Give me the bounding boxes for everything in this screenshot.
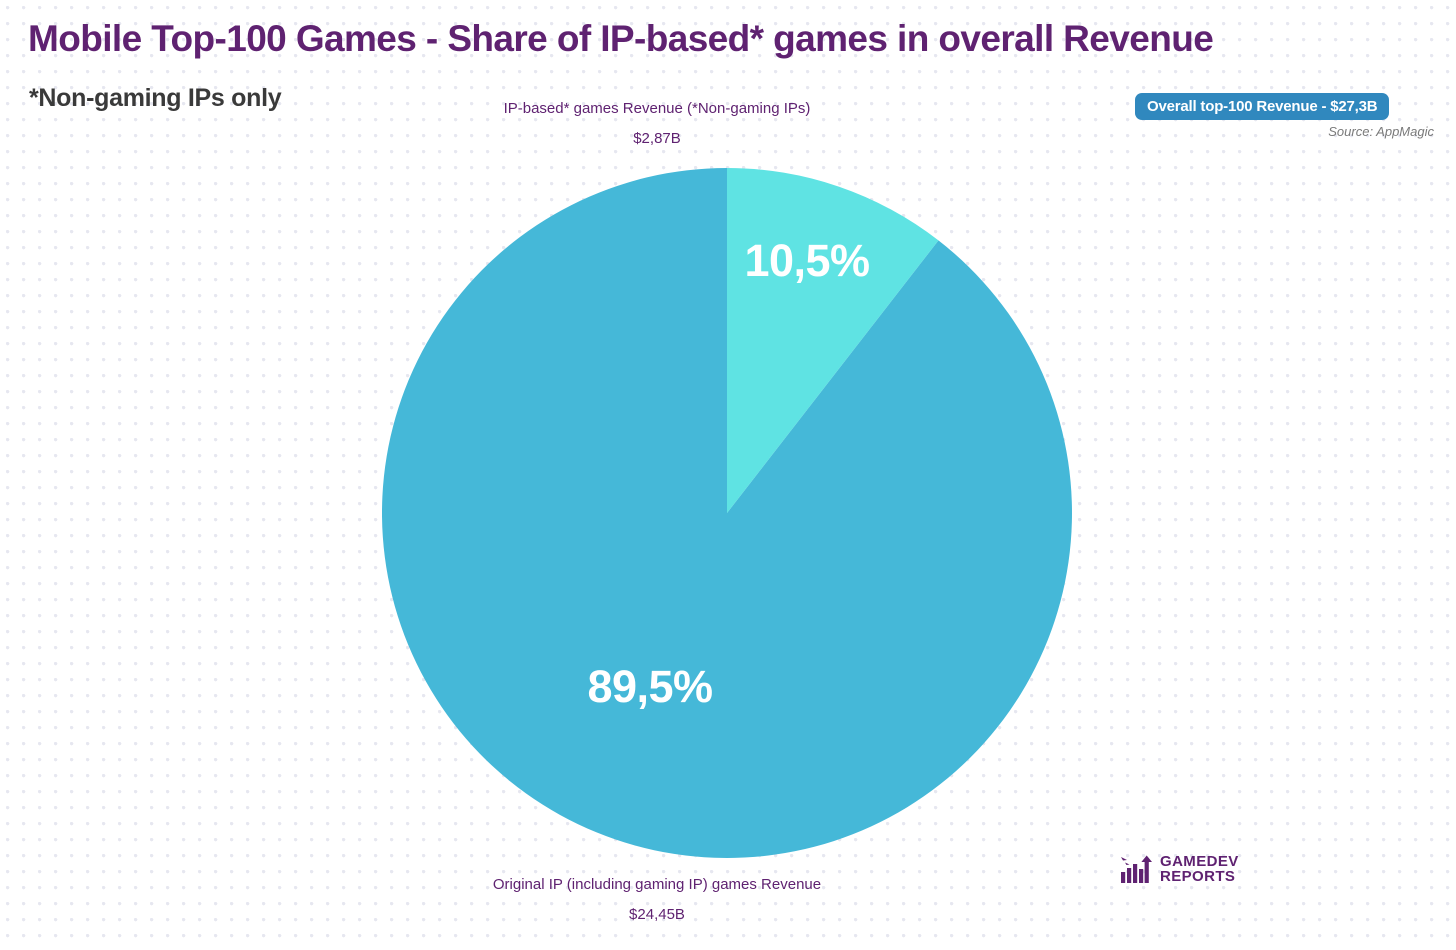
slice-label-ip-based: IP-based* games Revenue (*Non-gaming IPs… — [0, 99, 1456, 149]
slice-label-original-ip-name: Original IP (including gaming IP) games … — [493, 875, 821, 895]
bar-chart-arrow-icon — [1120, 854, 1154, 884]
logo-line-1: GAMEDEV — [1160, 854, 1239, 869]
slice-label-ip-based-value: $2,87B — [504, 129, 811, 149]
pie-percent-original-ip: 89,5% — [587, 661, 712, 713]
pie-slice-original-ip[interactable] — [382, 168, 1072, 858]
pie-chart-svg — [382, 168, 1072, 858]
page-title: Mobile Top-100 Games - Share of IP-based… — [28, 18, 1213, 60]
logo-line-2: REPORTS — [1160, 869, 1239, 884]
pie-percent-ip-based: 10,5% — [744, 235, 869, 287]
slice-label-ip-based-name: IP-based* games Revenue (*Non-gaming IPs… — [504, 99, 811, 119]
pie-chart — [382, 168, 1072, 858]
chart-page: Mobile Top-100 Games - Share of IP-based… — [0, 0, 1456, 950]
slice-label-original-ip-value: $24,45B — [493, 905, 821, 925]
gamedev-reports-logo: GAMEDEV REPORTS — [1120, 854, 1239, 884]
